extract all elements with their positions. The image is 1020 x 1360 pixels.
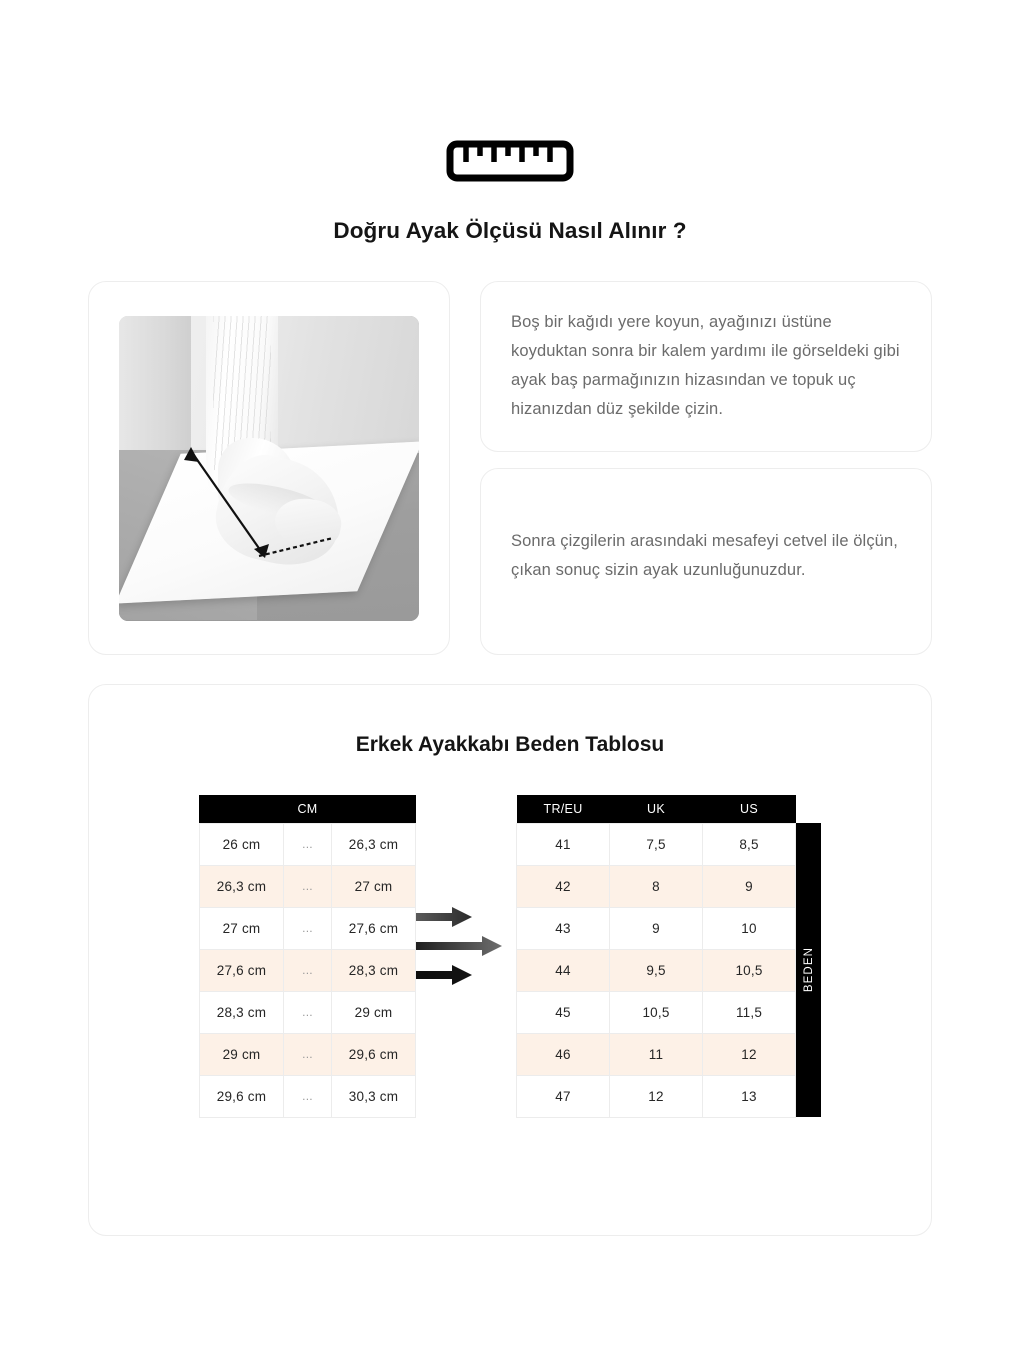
cell-tr-eu: 42 [517,865,610,907]
cell-uk: 11 [610,1033,703,1075]
table-row: 43 9 10 [517,907,796,949]
cm-from: 29,6 cm [199,1075,283,1117]
table-row: 47 12 13 [517,1075,796,1117]
table-row: 41 7,5 8,5 [517,823,796,865]
cell-us: 13 [703,1075,796,1117]
table-row: 45 10,5 11,5 [517,991,796,1033]
cell-tr-eu: 47 [517,1075,610,1117]
conversion-arrows [416,795,516,985]
size-tables-wrap: CM 26 cm ... 26,3 cm 26,3 cm ... 27 cm [89,795,931,1118]
table-row: 42 8 9 [517,865,796,907]
cm-from: 29 cm [199,1033,283,1075]
page-title: Doğru Ayak Ölçüsü Nasıl Alınır ? [0,218,1020,244]
cell-uk: 10,5 [610,991,703,1033]
foot-measure-photo [119,316,419,621]
cm-from: 26 cm [199,823,283,865]
cell-tr-eu: 43 [517,907,610,949]
cm-to: 28,3 cm [331,949,415,991]
measure-arrow-icon [119,316,419,621]
cm-table-body: 26 cm ... 26,3 cm 26,3 cm ... 27 cm 27 c… [199,823,415,1117]
cell-us: 8,5 [703,823,796,865]
table-row: 26,3 cm ... 27 cm [199,865,415,907]
cell-us: 11,5 [703,991,796,1033]
cell-tr-eu: 44 [517,949,610,991]
cell-uk: 8 [610,865,703,907]
size-conversion-table: TR/EU UK US 41 7,5 8,5 42 8 9 [516,795,796,1118]
cm-dots: ... [283,865,331,907]
instruction-text-1: Boş bir kağıdı yere koyun, ayağınızı üst… [511,308,901,424]
cell-us: 9 [703,865,796,907]
cell-uk: 9 [610,907,703,949]
size-guide-page: Doğru Ayak Ölçüsü Nasıl Alınır ? Boş bir… [0,0,1020,1360]
foot-photo-card [88,281,450,655]
arrow-right-icon [416,965,472,985]
instruction-card-1: Boş bir kağıdı yere koyun, ayağınızı üst… [480,281,932,452]
table-row: 26 cm ... 26,3 cm [199,823,415,865]
cm-dots: ... [283,1075,331,1117]
cm-to: 26,3 cm [331,823,415,865]
cell-uk: 12 [610,1075,703,1117]
cm-to: 29,6 cm [331,1033,415,1075]
cm-dots: ... [283,823,331,865]
cm-dots: ... [283,949,331,991]
ruler-icon-wrap [0,140,1020,182]
size-table-title: Erkek Ayakkabı Beden Tablosu [89,733,931,757]
cell-tr-eu: 46 [517,1033,610,1075]
cm-to: 27 cm [331,865,415,907]
cm-to: 27,6 cm [331,907,415,949]
cm-dots: ... [283,991,331,1033]
instruction-text-2: Sonra çizgilerin arasındaki mesafeyi cet… [511,527,901,585]
cell-us: 10,5 [703,949,796,991]
cell-uk: 7,5 [610,823,703,865]
instruction-card-2: Sonra çizgilerin arasındaki mesafeyi cet… [480,468,932,655]
table-row: 27 cm ... 27,6 cm [199,907,415,949]
cm-table: CM 26 cm ... 26,3 cm 26,3 cm ... 27 cm [199,795,416,1118]
cm-to: 29 cm [331,991,415,1033]
cm-to: 30,3 cm [331,1075,415,1117]
cell-tr-eu: 41 [517,823,610,865]
cell-tr-eu: 45 [517,991,610,1033]
arrow-right-icon [416,907,472,927]
cell-us: 12 [703,1033,796,1075]
cm-dots: ... [283,1033,331,1075]
table-row: 46 11 12 [517,1033,796,1075]
arrow-right-icon [416,936,502,956]
header-tr-eu: TR/EU [517,795,610,823]
beden-label-text: BEDEN [803,947,815,992]
cm-from: 27,6 cm [199,949,283,991]
cm-dots: ... [283,907,331,949]
header-uk: UK [610,795,703,823]
cell-uk: 9,5 [610,949,703,991]
table-row: 44 9,5 10,5 [517,949,796,991]
cm-from: 27 cm [199,907,283,949]
header-us: US [703,795,796,823]
size-table-card: Erkek Ayakkabı Beden Tablosu CM 26 cm ..… [88,684,932,1236]
size-table-header-row: TR/EU UK US [517,795,796,823]
cm-from: 26,3 cm [199,865,283,907]
table-row: 29,6 cm ... 30,3 cm [199,1075,415,1117]
table-row: 29 cm ... 29,6 cm [199,1033,415,1075]
cell-us: 10 [703,907,796,949]
cm-header-cell: CM [199,795,415,823]
cm-table-header-row: CM [199,795,415,823]
table-row: 27,6 cm ... 28,3 cm [199,949,415,991]
beden-side-label: BEDEN [796,823,821,1117]
cm-from: 28,3 cm [199,991,283,1033]
ruler-icon [446,140,574,182]
size-table-body: 41 7,5 8,5 42 8 9 43 9 10 [517,823,796,1117]
table-row: 28,3 cm ... 29 cm [199,991,415,1033]
